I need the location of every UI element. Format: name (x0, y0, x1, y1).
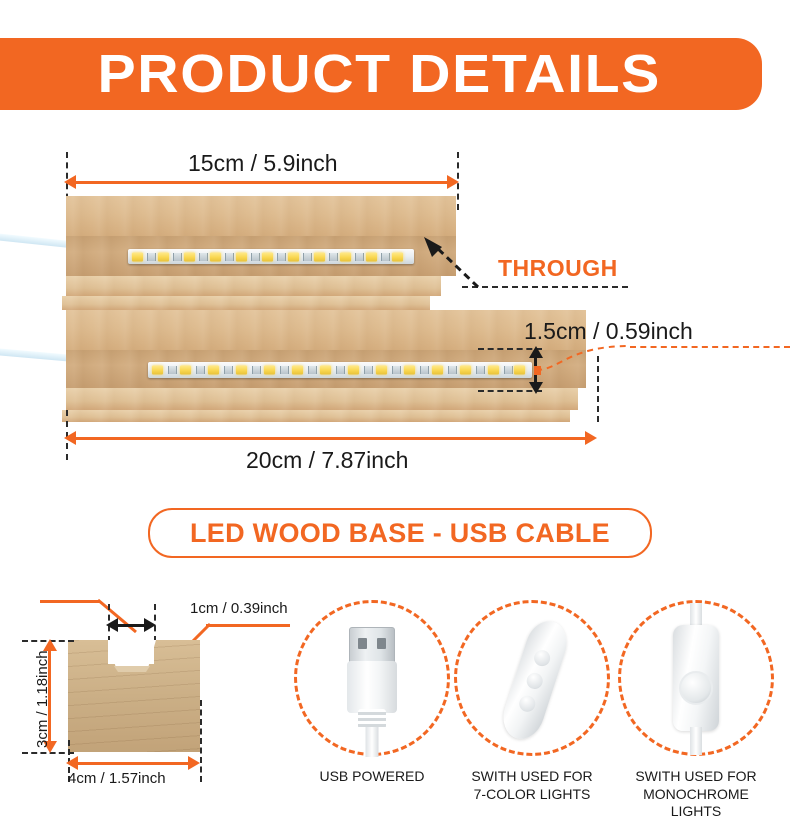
wood-base-top-face (66, 196, 456, 236)
usb-cable-wire (366, 727, 379, 757)
switch-button-icon (679, 671, 713, 705)
section-banner-label: LED WOOD BASE - USB CABLE (190, 518, 610, 549)
arrowhead-up-3cm (43, 639, 57, 651)
groove-leader-diagonal (96, 598, 142, 634)
arrowhead-left-1cm (106, 618, 118, 632)
guide-vert-right-base (597, 356, 599, 422)
inline-switch-icon (673, 625, 719, 731)
feature-caption-monochrome: SWITH USED FOR MONOCHROME LIGHTS (616, 768, 776, 821)
feature-caption-remote: SWITH USED FOR 7-COLOR LIGHTS (452, 768, 612, 803)
through-arrow-icon (420, 235, 482, 291)
arrowhead-right-1cm (144, 618, 156, 632)
groove-leader-line (40, 600, 100, 603)
feature-caption-monochrome-line2: MONOCHROME LIGHTS (616, 786, 776, 821)
dimension-label-width-15cm: 15cm / 5.9inch (188, 150, 338, 177)
dimension-label-height-1-5cm: 1.5cm / 0.59inch (524, 318, 693, 345)
guide-right-4cm (200, 700, 202, 782)
dimension-label-height-3cm: 3cm / 1.18inch (34, 650, 51, 748)
wood-base-top-lip (66, 276, 441, 296)
arrowhead-down-1-5cm (529, 382, 543, 394)
feature-caption-monochrome-line1: SWITH USED FOR (616, 768, 776, 786)
feature-caption-usb-line1: USB POWERED (292, 768, 452, 786)
feature-caption-usb: USB POWERED (292, 768, 452, 786)
through-leader-line (462, 286, 628, 288)
led-strip-top (128, 249, 414, 264)
dimension-label-length-20cm: 20cm / 7.87inch (246, 447, 408, 474)
feature-usb-powered: USB POWERED (292, 600, 452, 786)
cross-section-notch-shape (104, 640, 160, 672)
dimension-arrow-20cm (74, 437, 588, 440)
dimension-arrow-4cm (78, 762, 192, 765)
usb-strain-relief (358, 709, 386, 729)
arrowhead-left-20cm (64, 431, 76, 445)
arrowhead-right-15cm (447, 175, 459, 189)
wood-base-bottom-front (62, 410, 570, 422)
infographic-canvas: PRODUCT DETAILS 15cm / 5.9inch THROUGH (0, 0, 794, 794)
feature-caption-remote-line1: SWITH USED FOR (452, 768, 612, 786)
arrowhead-left-4cm (66, 756, 78, 770)
led-strip-bottom (148, 362, 532, 378)
feature-monochrome-switch: SWITH USED FOR MONOCHROME LIGHTS (616, 600, 776, 821)
wood-base-bottom-face (66, 310, 586, 350)
wood-base-top-front (62, 296, 430, 310)
feature-circle-inline-switch (618, 600, 774, 756)
dimension-label-width-4cm: 4cm / 1.57inch (68, 770, 166, 787)
arrowhead-right-20cm (585, 431, 597, 445)
switch-cord-bottom (690, 727, 702, 755)
dimension-label-groove-1cm: 1cm / 0.39inch (190, 600, 288, 617)
dimension-arrow-15cm (74, 181, 451, 184)
arrowhead-right-4cm (188, 756, 200, 770)
remote-switch-icon (497, 616, 573, 744)
arrowhead-left-15cm (64, 175, 76, 189)
feature-caption-remote-line2: 7-COLOR LIGHTS (452, 786, 612, 804)
feature-circle-usb (294, 600, 450, 756)
feature-circle-remote (454, 600, 610, 756)
section-banner: LED WOOD BASE - USB CABLE (148, 508, 652, 558)
header-banner: PRODUCT DETAILS (0, 38, 762, 110)
groove-label-leader (206, 624, 290, 627)
usb-body-shape (347, 661, 397, 713)
guide-right-1-5cm (630, 346, 790, 348)
page-title: PRODUCT DETAILS (81, 47, 661, 101)
feature-seven-color-switch: SWITH USED FOR 7-COLOR LIGHTS (452, 600, 612, 803)
through-callout-label: THROUGH (498, 255, 618, 282)
